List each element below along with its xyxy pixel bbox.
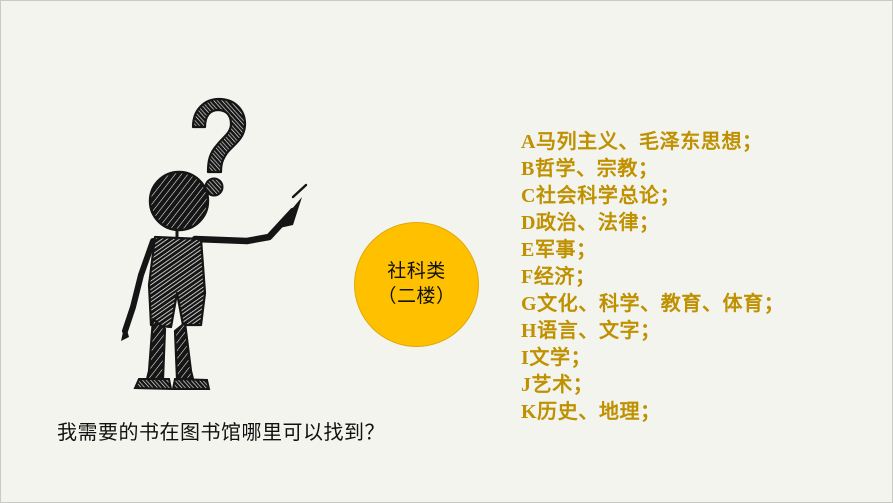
- question-caption: 我需要的书在图书馆哪里可以找到？: [57, 416, 385, 445]
- classification-item: H语言、文字；: [521, 318, 871, 345]
- classification-item: J艺术；: [521, 372, 871, 399]
- classification-item: I文学；: [521, 345, 871, 372]
- classification-item: G文化、科学、教育、体育；: [521, 291, 871, 318]
- figure-foot-right: [173, 379, 209, 389]
- classification-item: F经济；: [521, 264, 871, 291]
- figure-foot-left: [135, 379, 171, 389]
- classification-item: C社会科学总论；: [521, 183, 871, 210]
- slide-canvas: 社科类 （二楼） A马列主义、毛泽东思想； B哲学、宗教； C社会科学总论； D…: [0, 0, 893, 503]
- category-circle-badge[interactable]: 社科类 （二楼）: [354, 222, 479, 347]
- figure-leg-right: [175, 323, 193, 379]
- category-circle-line1: 社科类: [387, 260, 446, 284]
- figure-leg-left: [147, 319, 165, 379]
- figure-head: [150, 172, 208, 230]
- classification-item: D政治、法律；: [521, 210, 871, 237]
- classification-list: A马列主义、毛泽东思想； B哲学、宗教； C社会科学总论； D政治、法律； E军…: [521, 129, 871, 426]
- figure-torso: [149, 237, 205, 327]
- classification-item: B哲学、宗教；: [521, 156, 871, 183]
- classification-item: E军事；: [521, 237, 871, 264]
- classification-item: A马列主义、毛泽东思想；: [521, 129, 871, 156]
- classification-item: K历史、地理；: [521, 399, 871, 426]
- category-circle-line2: （二楼）: [377, 285, 455, 309]
- sketch-person-illustration: [97, 79, 327, 409]
